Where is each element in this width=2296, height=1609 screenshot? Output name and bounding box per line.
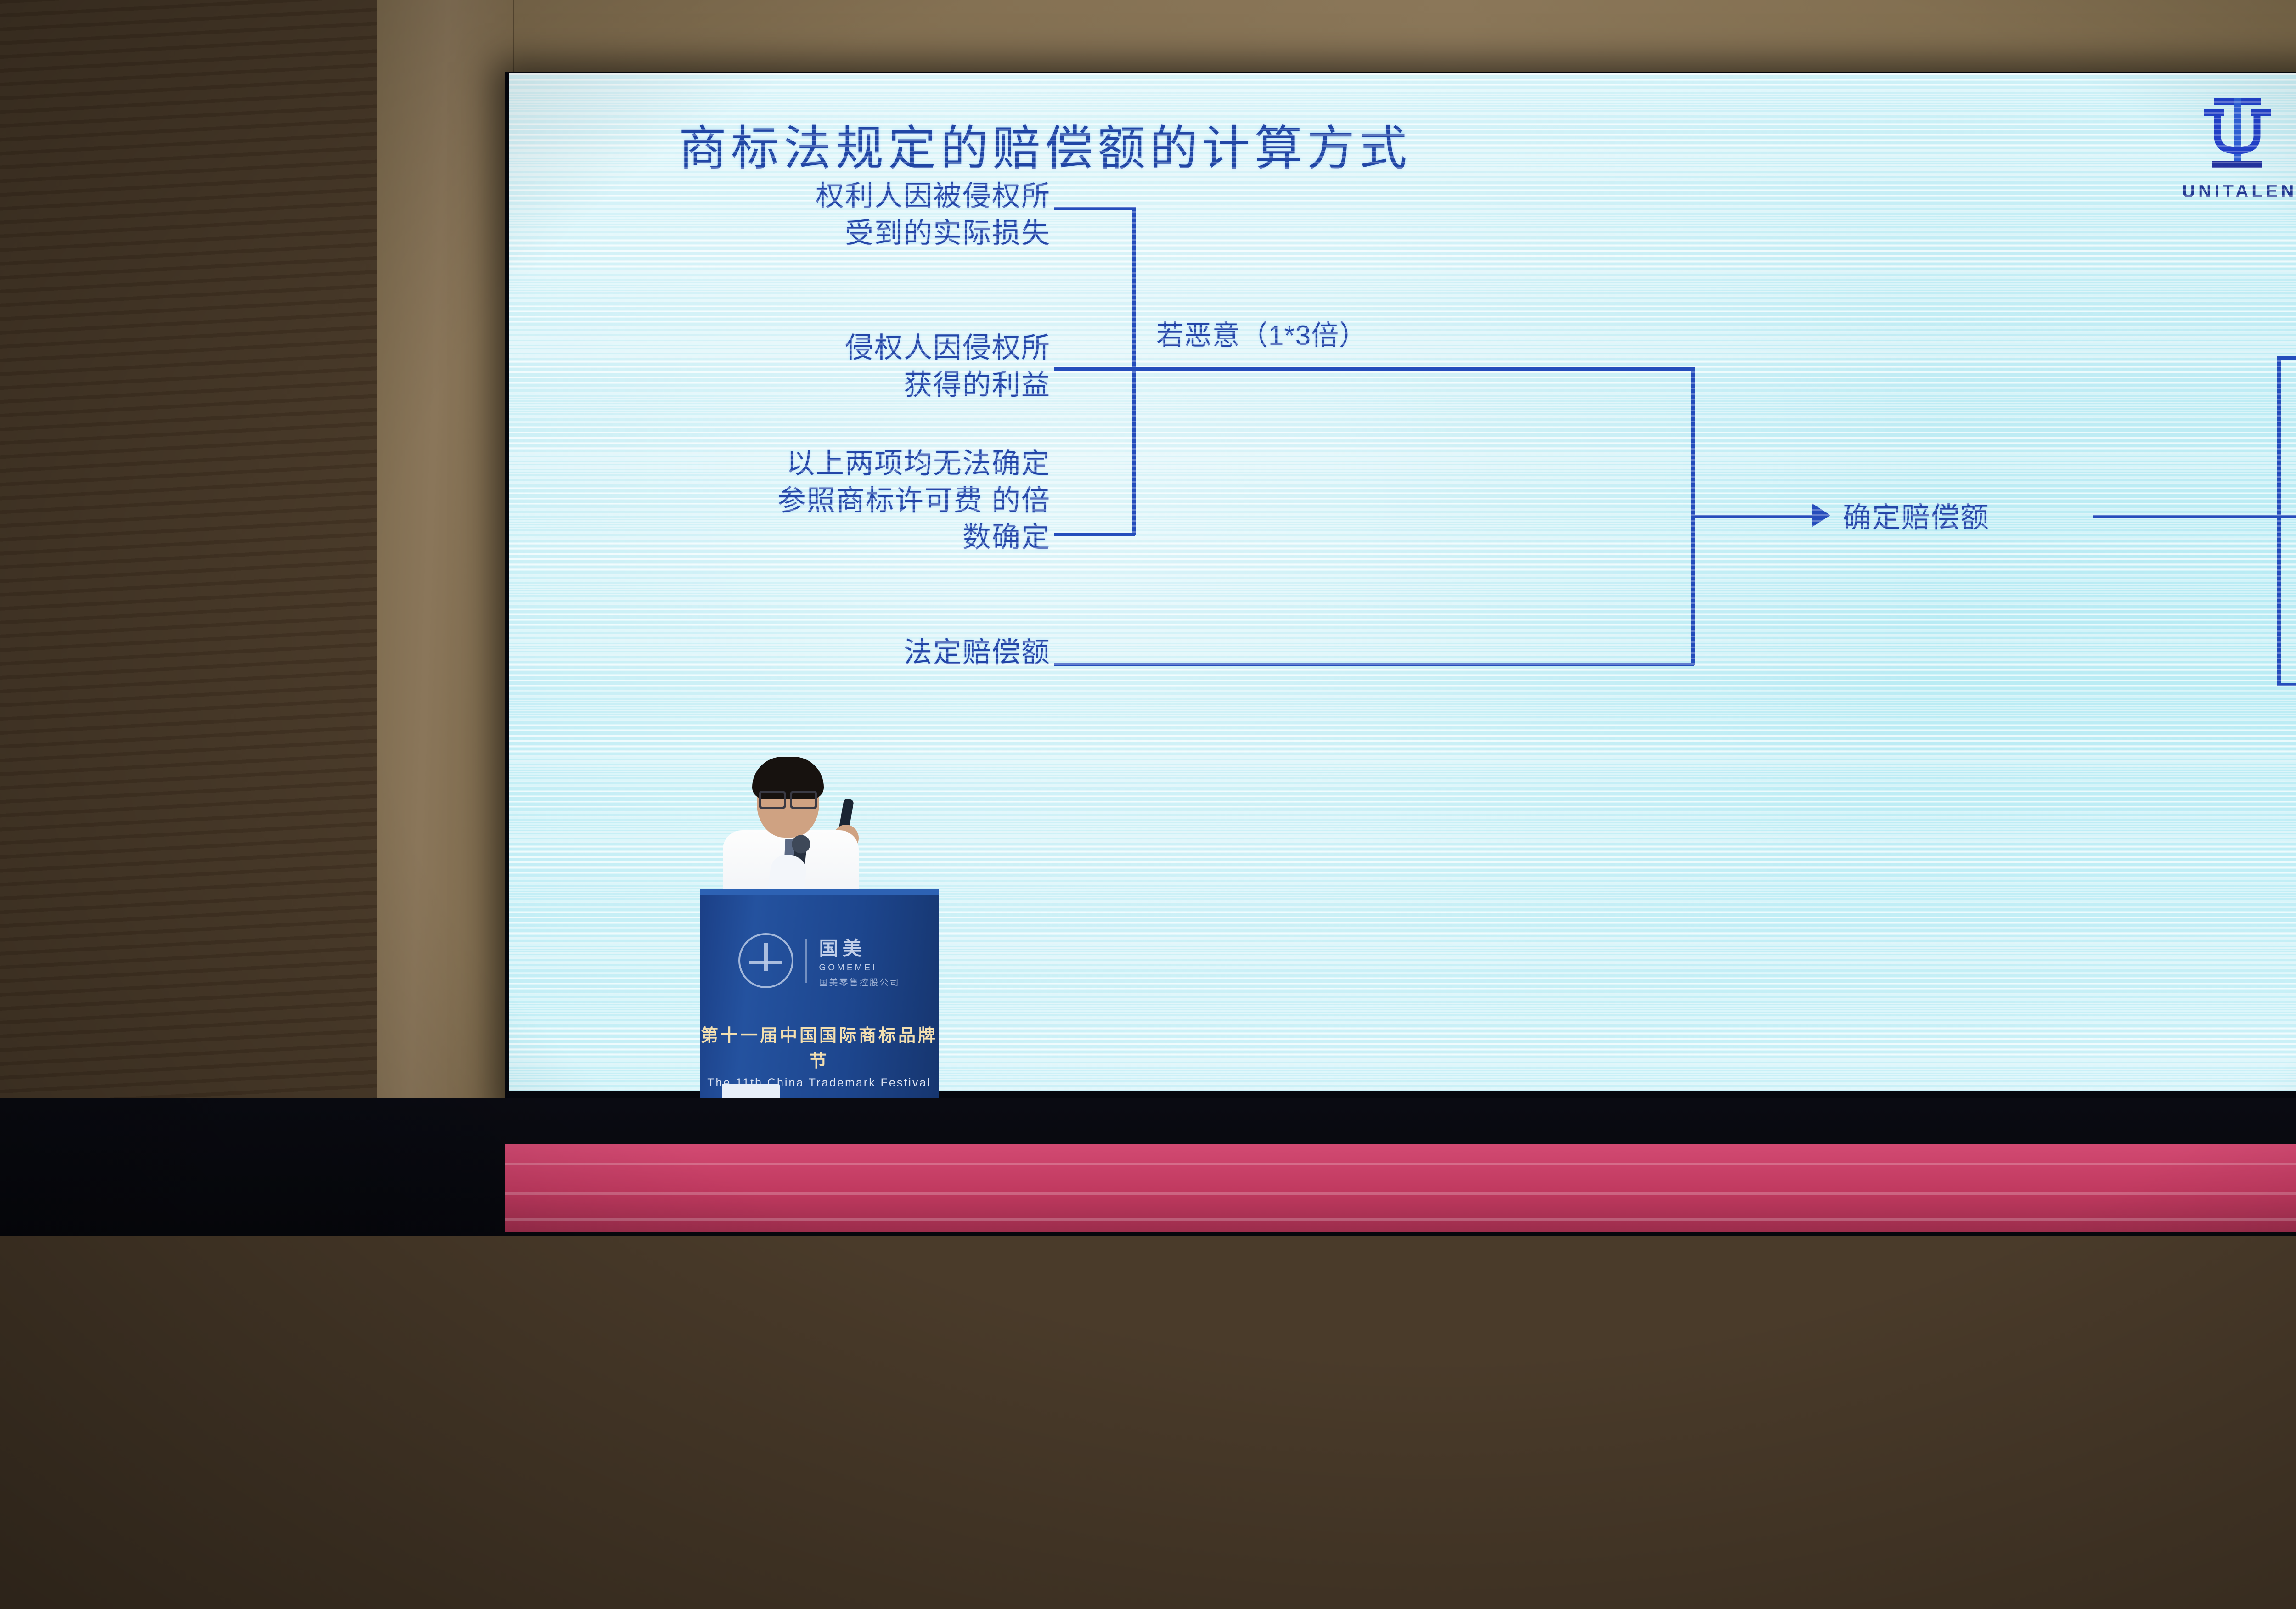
unitalen-wordmark: UNITALEN <box>2182 181 2292 202</box>
connector-to-center-upper <box>1132 367 1694 371</box>
gome-en: GOMEMEI <box>819 963 900 973</box>
unitalen-mark-icon <box>2194 96 2281 177</box>
connector-to-center-lower <box>1054 663 1694 666</box>
podium-top-edge <box>700 889 939 895</box>
connector-branch-3 <box>2277 683 2296 686</box>
slide-title: 商标法规定的赔偿额的计算方式 <box>679 109 1412 179</box>
stone-wall-panel <box>0 0 377 1194</box>
conference-photo: 商标法规定的赔偿额的计算方式 UNITALEN 权利人因被侵权所 受到的实际损失… <box>0 0 2296 1609</box>
connector-stub-1 <box>1054 207 1135 210</box>
node-infringer-profit: 侵权人因侵权所 获得的利益 <box>647 330 1051 404</box>
node-determine-damages: 确定赔偿额 <box>1843 500 1990 537</box>
connector-center-out <box>1691 515 1819 518</box>
gome-sub: 国美零售控股公司 <box>819 976 900 988</box>
wall-panel-left <box>377 0 514 1203</box>
connector-stub-2 <box>1054 367 1135 371</box>
connector-spine-left <box>1132 207 1136 535</box>
gome-cn: 国美 <box>819 933 900 961</box>
arrow-to-center-node <box>1812 503 1830 527</box>
node-license-multiple: 以上两项均无法确定 参照商标许可费 的倍 数确定 <box>619 445 1051 557</box>
connector-branch-1 <box>2277 356 2296 360</box>
podium-sponsor-logos: 国美 GOMEMEI 国美零售控股公司 <box>700 933 939 988</box>
gome-logo: 国美 GOMEMEI 国美零售控股公司 <box>819 933 900 988</box>
label-malice-multiplier: 若恶意（1*3倍） <box>1156 318 1367 354</box>
audience <box>0 1029 2296 1609</box>
logo-divider <box>805 939 807 983</box>
speaker-glasses-icon <box>759 791 817 804</box>
unitalen-logo: UNITALEN <box>2182 96 2292 202</box>
connector-fan-spine <box>2277 356 2281 685</box>
node-actual-loss: 权利人因被侵权所 受到的实际损失 <box>647 178 1051 252</box>
connector-stub-3 <box>1054 533 1135 536</box>
node-statutory-damages: 法定赔偿额 <box>647 635 1051 672</box>
organizer-seal-icon <box>738 933 793 988</box>
connector-branch-2 <box>2277 515 2296 518</box>
connector-center-to-fan <box>2093 515 2279 518</box>
